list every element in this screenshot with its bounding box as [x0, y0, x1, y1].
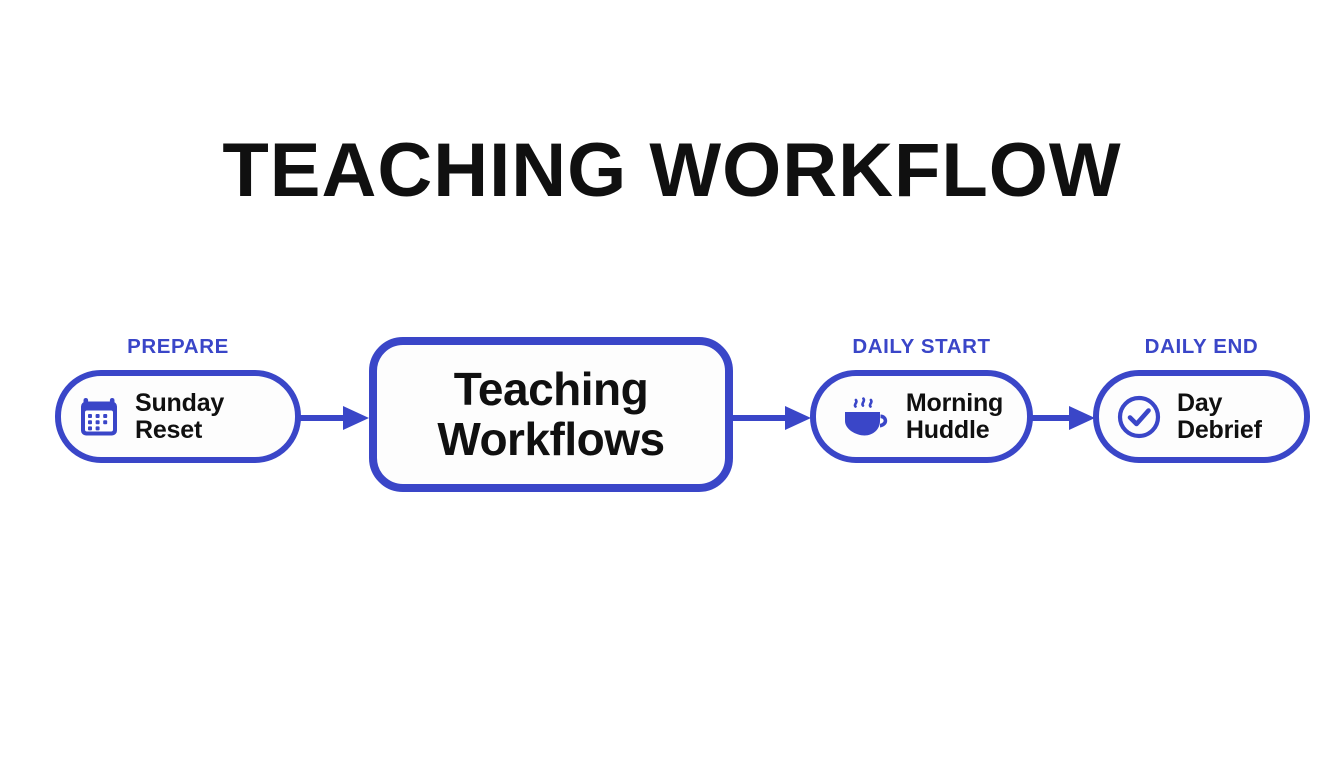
stage-label-prepare: PREPARE: [55, 337, 301, 358]
connector-arrow-1: [299, 400, 371, 436]
node-label-morning-huddle: Morning Huddle: [906, 390, 1003, 443]
page-title: TEACHING WORKFLOW: [0, 133, 1344, 209]
calendar-icon: [77, 395, 121, 439]
stage-label-daily-start: DAILY START: [810, 337, 1033, 358]
connector-arrow-3: [1031, 400, 1097, 436]
node-label-day-debrief: Day Debrief: [1177, 390, 1288, 443]
check-circle-icon: [1115, 393, 1163, 441]
node-teaching-workflows[interactable]: Teaching Workflows: [369, 337, 733, 492]
node-label-sunday-reset: Sunday Reset: [135, 390, 279, 443]
connector-arrow-2: [731, 400, 813, 436]
node-label-teaching-workflows: Teaching Workflows: [437, 365, 664, 464]
coffee-cup-icon: [840, 393, 892, 441]
diagram-canvas: TEACHING WORKFLOW PREPARE: [0, 0, 1344, 768]
node-morning-huddle[interactable]: Morning Huddle: [810, 370, 1033, 463]
node-day-debrief[interactable]: Day Debrief: [1093, 370, 1310, 463]
stage-label-daily-end: DAILY END: [1093, 337, 1310, 358]
node-sunday-reset[interactable]: Sunday Reset: [55, 370, 301, 463]
